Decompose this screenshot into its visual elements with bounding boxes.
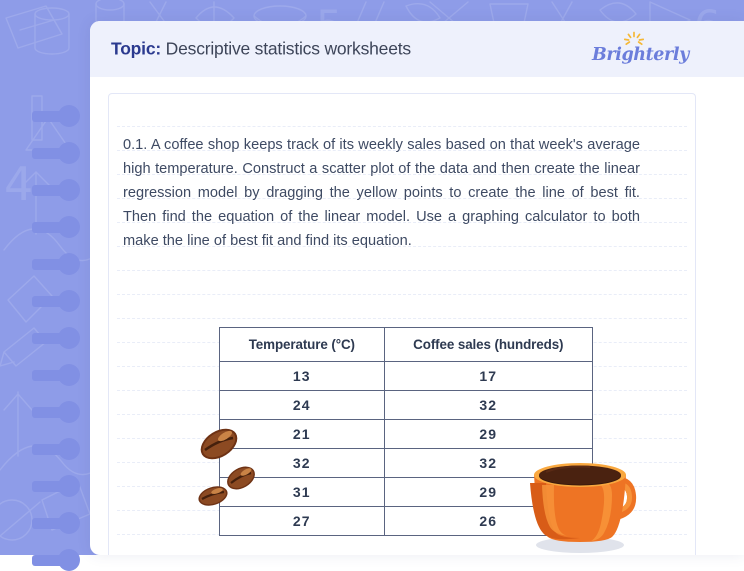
cell-sales: 29: [384, 420, 592, 449]
column-header-coffee-sales: Coffee sales (hundreds): [384, 328, 592, 362]
worksheet-body: 0.1. A coffee shop keeps track of its we…: [108, 93, 696, 555]
brand-wordmark: Brighterly: [592, 45, 689, 65]
table-row: 27 26: [220, 507, 593, 536]
column-header-temperature: Temperature (°C): [220, 328, 385, 362]
cell-sales: 29: [384, 478, 592, 507]
question-text: 0.1. A coffee shop keeps track of its we…: [123, 133, 640, 253]
svg-text:4: 4: [4, 157, 33, 211]
cell-temperature: 13: [220, 362, 385, 391]
worksheet-card: Topic: Descriptive statistics worksheets…: [90, 21, 744, 555]
table-row: 21 29: [220, 420, 593, 449]
table-row: 32 32: [220, 449, 593, 478]
cell-temperature: 21: [220, 420, 385, 449]
worksheet-header: Topic: Descriptive statistics worksheets…: [90, 21, 744, 77]
table-row: 24 32: [220, 391, 593, 420]
data-table: Temperature (°C) Coffee sales (hundreds)…: [219, 327, 593, 536]
topic-line: Topic: Descriptive statistics worksheets: [111, 39, 411, 60]
table-header-row: Temperature (°C) Coffee sales (hundreds): [220, 328, 593, 362]
cell-sales: 17: [384, 362, 592, 391]
cell-temperature: 27: [220, 507, 385, 536]
cell-temperature: 32: [220, 449, 385, 478]
brighterly-logo[interactable]: Brighterly: [592, 32, 688, 66]
topic-value: Descriptive statistics worksheets: [166, 39, 411, 59]
topic-label: Topic:: [111, 39, 161, 59]
cell-sales: 32: [384, 449, 592, 478]
cell-sales: 32: [384, 391, 592, 420]
table-row: 31 29: [220, 478, 593, 507]
cell-temperature: 24: [220, 391, 385, 420]
table-row: 13 17: [220, 362, 593, 391]
cell-sales: 26: [384, 507, 592, 536]
cell-temperature: 31: [220, 478, 385, 507]
